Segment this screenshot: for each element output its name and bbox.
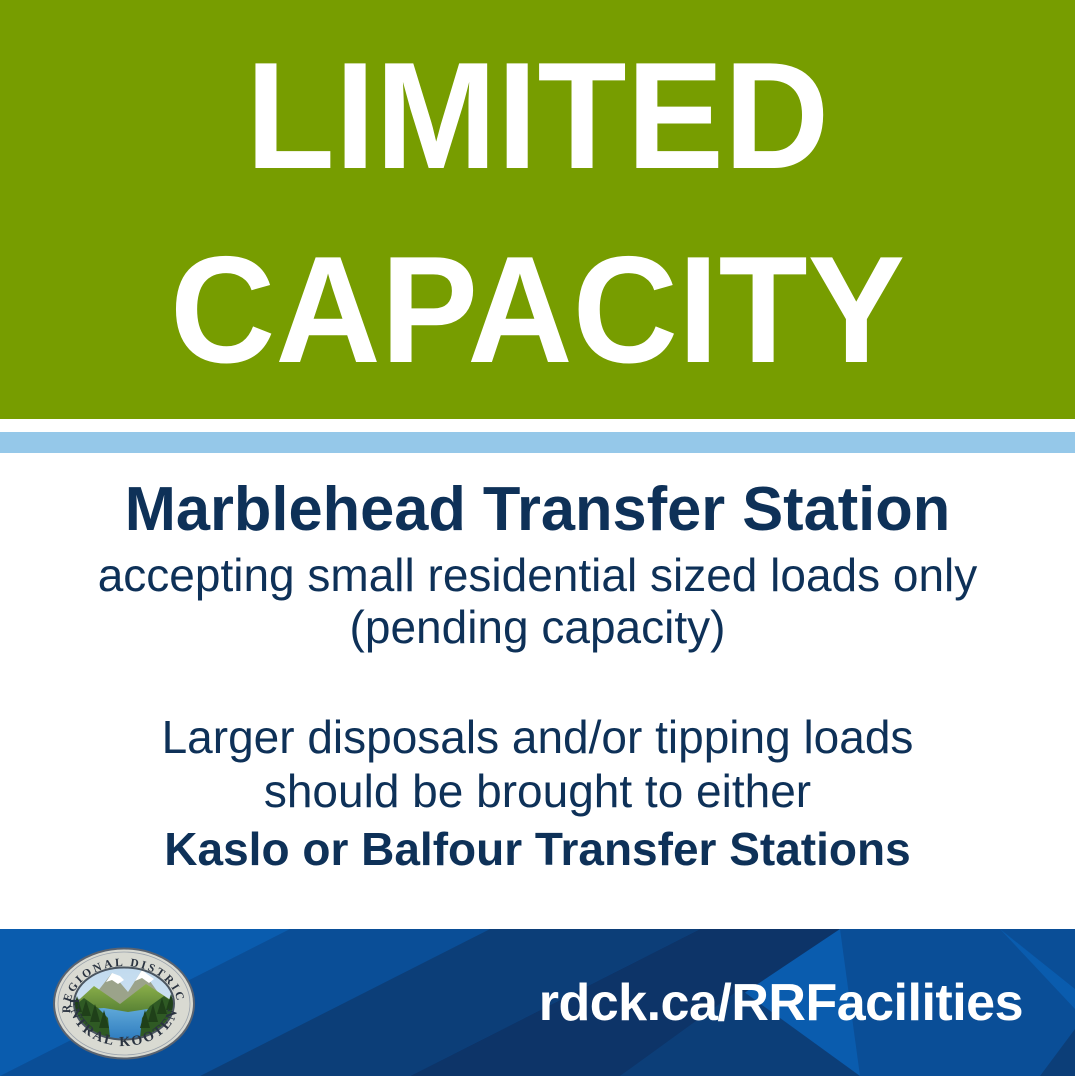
- station-subtitle-line-1: accepting small residential sized loads …: [18, 543, 1057, 601]
- body-panel: Marblehead Transfer Station accepting sm…: [0, 453, 1075, 929]
- right-edge-margin: [1075, 0, 1080, 1080]
- instruction-line-2: should be brought to either: [18, 764, 1057, 818]
- footer-content: REGIONAL DISTRICT CENTRAL KOOTENAY rdck.…: [0, 929, 1075, 1076]
- rdck-logo[interactable]: REGIONAL DISTRICT CENTRAL KOOTENAY: [50, 946, 198, 1061]
- bottom-edge-margin: [0, 1076, 1080, 1080]
- divider-blue-bar: [0, 432, 1075, 453]
- footer-banner: REGIONAL DISTRICT CENTRAL KOOTENAY rdck.…: [0, 929, 1075, 1076]
- divider-white-gap: [0, 419, 1075, 432]
- instruction-line-1: Larger disposals and/or tipping loads: [18, 710, 1057, 764]
- header-banner: LIMITED CAPACITY: [0, 0, 1075, 419]
- alternate-stations-line: Kaslo or Balfour Transfer Stations: [18, 818, 1057, 877]
- overflow-instructions: Larger disposals and/or tipping loads sh…: [18, 654, 1057, 878]
- station-title: Marblehead Transfer Station: [23, 453, 1052, 543]
- headline-line-2: CAPACITY: [22, 234, 1054, 386]
- website-url[interactable]: rdck.ca/RRFacilities: [539, 977, 1023, 1029]
- rdck-crest-icon: REGIONAL DISTRICT CENTRAL KOOTENAY: [50, 946, 198, 1061]
- headline-line-1: LIMITED: [22, 40, 1054, 192]
- station-subtitle-line-2: (pending capacity): [18, 601, 1057, 653]
- poster-canvas: LIMITED CAPACITY Marblehead Transfer Sta…: [0, 0, 1080, 1080]
